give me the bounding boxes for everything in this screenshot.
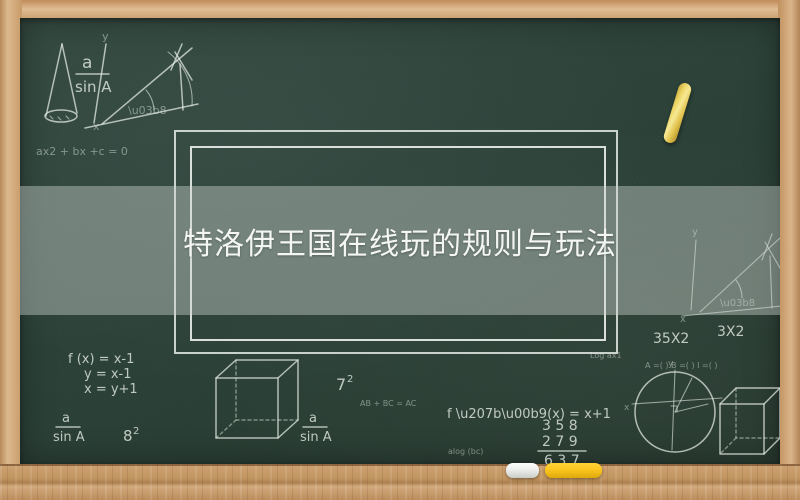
cube-drawing-right: [720, 388, 780, 454]
function-equations: f (x) = x-1 y = x-1 x = y+1: [68, 352, 138, 397]
screenshot-root: a sin A y x \u03b8: [0, 0, 800, 500]
cube-drawing-center: [216, 360, 298, 438]
circle-diagram: y x: [624, 359, 722, 452]
cone-drawing: [45, 44, 77, 122]
svg-text:a: a: [62, 411, 70, 426]
white-chalk-piece-icon: [506, 463, 539, 478]
svg-text:y = x-1: y = x-1: [84, 367, 132, 382]
svg-text:f (x) = x-1: f (x) = x-1: [68, 352, 134, 367]
svg-text:a: a: [309, 411, 317, 426]
svg-text:a: a: [82, 53, 92, 73]
svg-text:AB + BC = AC: AB + BC = AC: [360, 399, 417, 408]
svg-text:2: 2: [133, 426, 139, 437]
svg-text:\u03b8: \u03b8: [128, 104, 167, 117]
svg-text:A =( ) B =( ) I =( ): A =( ) B =( ) I =( ): [645, 361, 718, 370]
angle-diagram-right: y x \u03b8: [680, 227, 780, 325]
svg-text:2: 2: [347, 374, 353, 385]
svg-text:7: 7: [336, 375, 346, 394]
svg-text:3 5 8: 3 5 8: [542, 418, 578, 434]
svg-text:sin A: sin A: [75, 78, 112, 96]
svg-text:f \u207b\u00b9(x) = x+1: f \u207b\u00b9(x) = x+1: [447, 407, 611, 422]
svg-text:x: x: [680, 314, 686, 325]
svg-text:y: y: [692, 227, 698, 238]
svg-text:\u03b8: \u03b8: [720, 298, 755, 309]
frame-left-bevel: [0, 0, 22, 500]
tray-top-edge: [0, 464, 800, 466]
svg-text:8: 8: [123, 427, 133, 445]
svg-text:alog (bc): alog (bc): [448, 447, 483, 456]
frame-right-bevel: [778, 0, 800, 500]
chalkboard: a sin A y x \u03b8: [20, 18, 780, 464]
svg-text:3X2: 3X2: [717, 324, 744, 340]
svg-text:ax2 + bx +c = 0: ax2 + bx +c = 0: [36, 145, 128, 158]
svg-text:sin A: sin A: [300, 430, 332, 445]
svg-text:x: x: [624, 403, 630, 413]
yellow-chalk-piece-icon: [545, 463, 602, 478]
svg-text:sin A: sin A: [53, 430, 85, 445]
tray-wood-grain: [0, 464, 800, 500]
svg-text:x = y+1: x = y+1: [84, 382, 138, 397]
svg-text:2 7 9: 2 7 9: [542, 434, 578, 450]
chalk-tray: [0, 464, 800, 500]
svg-text:y: y: [102, 30, 109, 43]
decorative-rectangle-inner: [190, 146, 606, 341]
svg-text:35X2: 35X2: [653, 331, 689, 347]
addition-column: 3 5 8 2 7 9 6 3 7: [538, 418, 586, 464]
frame-top-bevel: [0, 0, 800, 20]
svg-text:y: y: [668, 359, 674, 369]
